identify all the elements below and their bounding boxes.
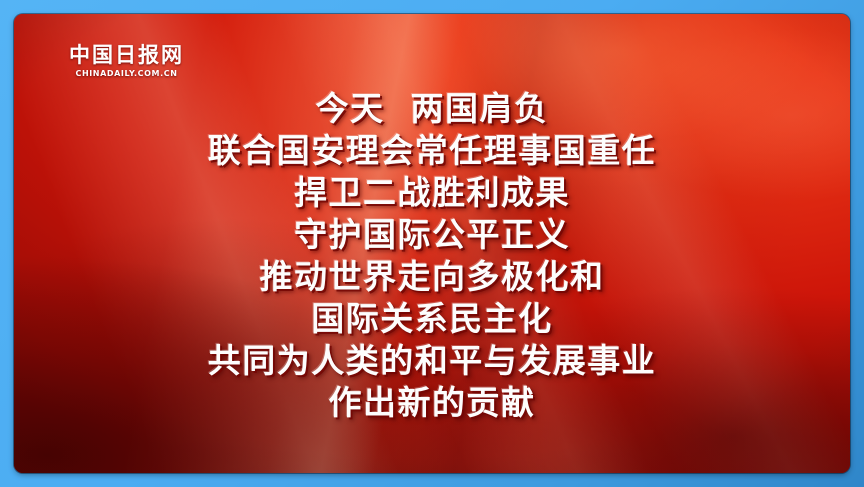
logo-url: CHINADAILY.COM.CN	[69, 69, 184, 78]
headline-line-2: 联合国安理会常任理事国重任	[14, 130, 850, 172]
poster-frame: 中国日报网 CHINADAILY.COM.CN 今天 两国肩负 联合国安理会常任…	[0, 0, 864, 487]
headline-line-6: 国际关系民主化	[14, 298, 850, 340]
headline-line-7: 共同为人类的和平与发展事业	[14, 340, 850, 382]
headline-line-1: 今天 两国肩负	[14, 88, 850, 130]
headline-line-8: 作出新的贡献	[14, 382, 850, 424]
headline-line-5: 推动世界走向多极化和	[14, 256, 850, 298]
china-daily-logo[interactable]: 中国日报网 CHINADAILY.COM.CN	[69, 44, 184, 78]
logo-wordmark: 中国日报网	[69, 44, 184, 66]
red-silk-banner: 中国日报网 CHINADAILY.COM.CN 今天 两国肩负 联合国安理会常任…	[14, 14, 850, 473]
headline-block: 今天 两国肩负 联合国安理会常任理事国重任 捍卫二战胜利成果 守护国际公平正义 …	[14, 88, 850, 424]
headline-line-3: 捍卫二战胜利成果	[14, 172, 850, 214]
headline-line-4: 守护国际公平正义	[14, 214, 850, 256]
